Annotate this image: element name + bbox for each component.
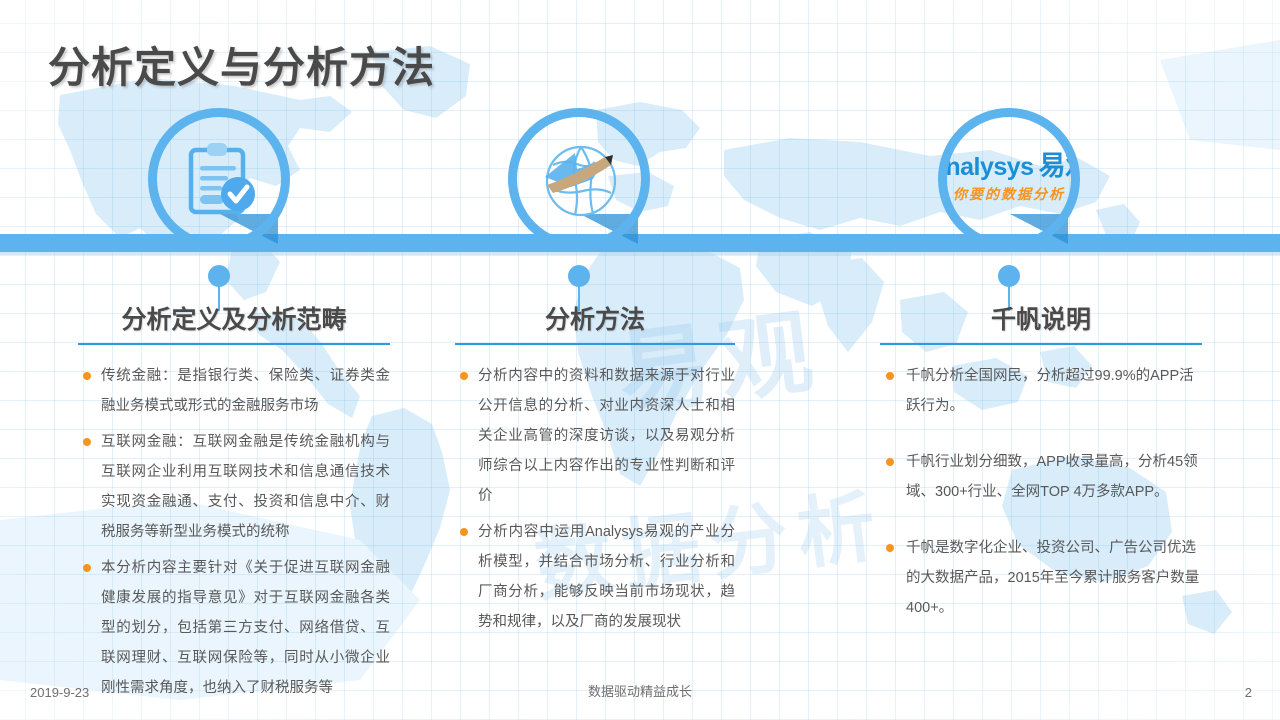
node-clipboard [148, 108, 290, 250]
analysys-logo-icon: Onalysys易观 你要的数据分析 [947, 117, 1071, 241]
slide: 易观 数据分析 分析定义与分析方法 [0, 0, 1280, 720]
footer-slogan: 数据驱动精益成长 [0, 681, 1280, 700]
list-item: 千帆是数字化企业、投资公司、广告公司优选的大数据产品，2015年至今累计服务客户… [880, 533, 1202, 623]
bullet-list: 分析内容中的资料和数据来源于对行业公开信息的分析、对业内资深人士和相关企业高管的… [455, 361, 735, 637]
globe-pencil-icon [517, 117, 641, 241]
logo-wordmark-cn: 易观 [1039, 151, 1071, 181]
node-globe [508, 108, 650, 250]
list-item: 传统金融：是指银行类、保险类、证券类金融业务模式或形式的金融服务市场 [78, 361, 390, 421]
column-rule [455, 343, 735, 345]
list-item: 互联网金融：互联网金融是传统金融机构与互联网企业利用互联网技术和信息通信技术实现… [78, 427, 390, 547]
column-heading: 千帆说明 [880, 300, 1202, 336]
logo-wordmark: Onalysys易观 [947, 153, 1071, 180]
logo-tagline: 你要的数据分析 [947, 187, 1071, 201]
list-item: 分析内容中的资料和数据来源于对行业公开信息的分析、对业内资深人士和相关企业高管的… [455, 361, 735, 511]
column-heading: 分析定义及分析范畴 [78, 300, 390, 336]
pin-dot [208, 265, 230, 287]
logo-wordmark-latin: Onalysys [947, 153, 1034, 181]
blue-divider-band-shadow [0, 252, 1280, 255]
column-rule [78, 343, 390, 345]
column-heading: 分析方法 [455, 300, 735, 336]
page-title: 分析定义与分析方法 [48, 34, 435, 95]
pin-dot [998, 265, 1020, 287]
node-analysys-logo: Onalysys易观 你要的数据分析 [938, 108, 1080, 250]
footer-page-number: 2 [1245, 685, 1252, 700]
bullet-list: 千帆分析全国网民，分析超过99.9%的APP活跃行为。 千帆行业划分细致，APP… [880, 361, 1202, 623]
column-analysis-method: 分析方法 分析内容中的资料和数据来源于对行业公开信息的分析、对业内资深人士和相关… [455, 300, 735, 643]
column-analysis-definition: 分析定义及分析范畴 传统金融：是指银行类、保险类、证券类金融业务模式或形式的金融… [78, 300, 390, 709]
column-rule [880, 343, 1202, 345]
list-item: 分析内容中运用Analysys易观的产业分析模型，并结合市场分析、行业分析和厂商… [455, 517, 735, 637]
list-item: 千帆分析全国网民，分析超过99.9%的APP活跃行为。 [880, 361, 1202, 421]
pin-dot [568, 265, 590, 287]
clipboard-check-icon [157, 117, 281, 241]
list-item: 千帆行业划分细致，APP收录量高，分析45领域、300+行业、全网TOP 4万多… [880, 447, 1202, 507]
column-qianfan-description: 千帆说明 千帆分析全国网民，分析超过99.9%的APP活跃行为。 千帆行业划分细… [880, 300, 1202, 649]
bullet-list: 传统金融：是指银行类、保险类、证券类金融业务模式或形式的金融服务市场 互联网金融… [78, 361, 390, 703]
